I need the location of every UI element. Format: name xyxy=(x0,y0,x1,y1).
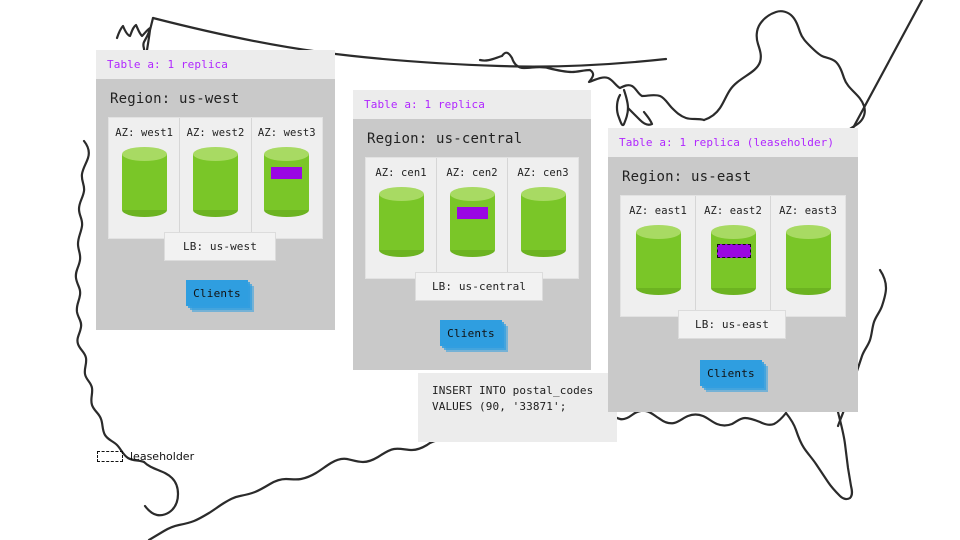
clients-us-east[interactable]: Clients xyxy=(700,360,762,386)
cylinder-top xyxy=(636,225,681,239)
dashed-rectangle-icon xyxy=(97,451,123,462)
az-label-west3: AZ: west3 xyxy=(258,127,316,139)
az-strip-us-central: AZ: cen1 AZ: cen2 AZ: cen3 xyxy=(365,157,579,279)
cylinder-body xyxy=(636,232,681,288)
cylinder-body xyxy=(122,154,167,210)
region-title-us-central: Region: us-central xyxy=(353,119,591,157)
az-label-cen2: AZ: cen2 xyxy=(446,167,497,179)
az-strip-us-west: AZ: west1 AZ: west2 AZ: west3 xyxy=(108,117,323,239)
node-cylinder-cen1[interactable] xyxy=(379,187,424,257)
clients-us-west[interactable]: Clients xyxy=(186,280,248,306)
cylinder-body xyxy=(264,154,309,210)
clients-label-us-east: Clients xyxy=(700,360,762,386)
az-cell-cen1[interactable]: AZ: cen1 xyxy=(366,158,437,278)
legend-leaseholder: leaseholder xyxy=(97,450,194,463)
cylinder-top xyxy=(786,225,831,239)
map-lake-michigan xyxy=(617,90,628,125)
az-cell-east2[interactable]: AZ: east2 xyxy=(696,196,771,316)
region-title-us-west: Region: us-west xyxy=(96,79,335,117)
region-panel-us-west: Table a: 1 replica Region: us-west AZ: w… xyxy=(96,50,335,330)
clients-label-us-central: Clients xyxy=(440,320,502,346)
az-label-west1: AZ: west1 xyxy=(115,127,173,139)
az-cell-west3[interactable]: AZ: west3 xyxy=(252,118,322,238)
region-panel-us-central: Table a: 1 replica Region: us-central AZ… xyxy=(353,90,591,370)
cylinder-body xyxy=(521,194,566,250)
az-label-east3: AZ: east3 xyxy=(779,205,837,217)
node-cylinder-east1[interactable] xyxy=(636,225,681,295)
region-panel-us-east: Table a: 1 replica (leaseholder) Region:… xyxy=(608,128,858,412)
az-label-east2: AZ: east2 xyxy=(704,205,762,217)
cylinder-body xyxy=(786,232,831,288)
cylinder-top xyxy=(521,187,566,201)
load-balancer-us-central[interactable]: LB: us-central xyxy=(415,272,543,301)
az-label-cen1: AZ: cen1 xyxy=(375,167,426,179)
map-lake-superior-tip xyxy=(628,108,652,125)
sql-statement-box: INSERT INTO postal_codesVALUES (90, '338… xyxy=(418,373,617,442)
az-label-west2: AZ: west2 xyxy=(187,127,245,139)
map-texas-tip xyxy=(144,462,178,515)
az-cell-west2[interactable]: AZ: west2 xyxy=(180,118,251,238)
cylinder-top xyxy=(264,147,309,161)
replica-marker-east2-leaseholder xyxy=(717,244,751,258)
az-cell-cen2[interactable]: AZ: cen2 xyxy=(437,158,508,278)
legend-label: leaseholder xyxy=(130,450,194,463)
node-cylinder-west3[interactable] xyxy=(264,147,309,217)
load-balancer-us-east[interactable]: LB: us-east xyxy=(678,310,786,339)
region-banner-us-east: Table a: 1 replica (leaseholder) xyxy=(608,128,858,157)
clients-label-us-west: Clients xyxy=(186,280,248,306)
az-strip-us-east: AZ: east1 AZ: east2 AZ: east3 xyxy=(620,195,846,317)
cylinder-top xyxy=(193,147,238,161)
az-label-east1: AZ: east1 xyxy=(629,205,687,217)
az-label-cen3: AZ: cen3 xyxy=(517,167,568,179)
cylinder-body xyxy=(711,232,756,288)
node-cylinder-west1[interactable] xyxy=(122,147,167,217)
clients-us-central[interactable]: Clients xyxy=(440,320,502,346)
cylinder-body xyxy=(193,154,238,210)
region-banner-us-west: Table a: 1 replica xyxy=(96,50,335,79)
cylinder-body xyxy=(450,194,495,250)
cylinder-top xyxy=(122,147,167,161)
cylinder-top xyxy=(450,187,495,201)
az-cell-cen3[interactable]: AZ: cen3 xyxy=(508,158,578,278)
cylinder-top xyxy=(711,225,756,239)
replica-marker-cen2 xyxy=(457,207,488,219)
sql-line-1: INSERT INTO postal_codes xyxy=(432,384,593,397)
region-title-us-east: Region: us-east xyxy=(608,157,858,195)
replica-marker-west3 xyxy=(271,167,302,179)
node-cylinder-cen2[interactable] xyxy=(450,187,495,257)
cylinder-body xyxy=(379,194,424,250)
az-cell-east3[interactable]: AZ: east3 xyxy=(771,196,845,316)
cylinder-top xyxy=(379,187,424,201)
az-cell-east1[interactable]: AZ: east1 xyxy=(621,196,696,316)
node-cylinder-cen3[interactable] xyxy=(521,187,566,257)
az-cell-west1[interactable]: AZ: west1 xyxy=(109,118,180,238)
sql-line-2: VALUES (90, '33871'; xyxy=(432,400,566,413)
node-cylinder-east2[interactable] xyxy=(711,225,756,295)
region-banner-us-central: Table a: 1 replica xyxy=(353,90,591,119)
node-cylinder-east3[interactable] xyxy=(786,225,831,295)
node-cylinder-west2[interactable] xyxy=(193,147,238,217)
diagram-canvas: 2 Table a: 1 replica Region: us-west AZ:… xyxy=(0,0,960,540)
load-balancer-us-west[interactable]: LB: us-west xyxy=(164,232,276,261)
